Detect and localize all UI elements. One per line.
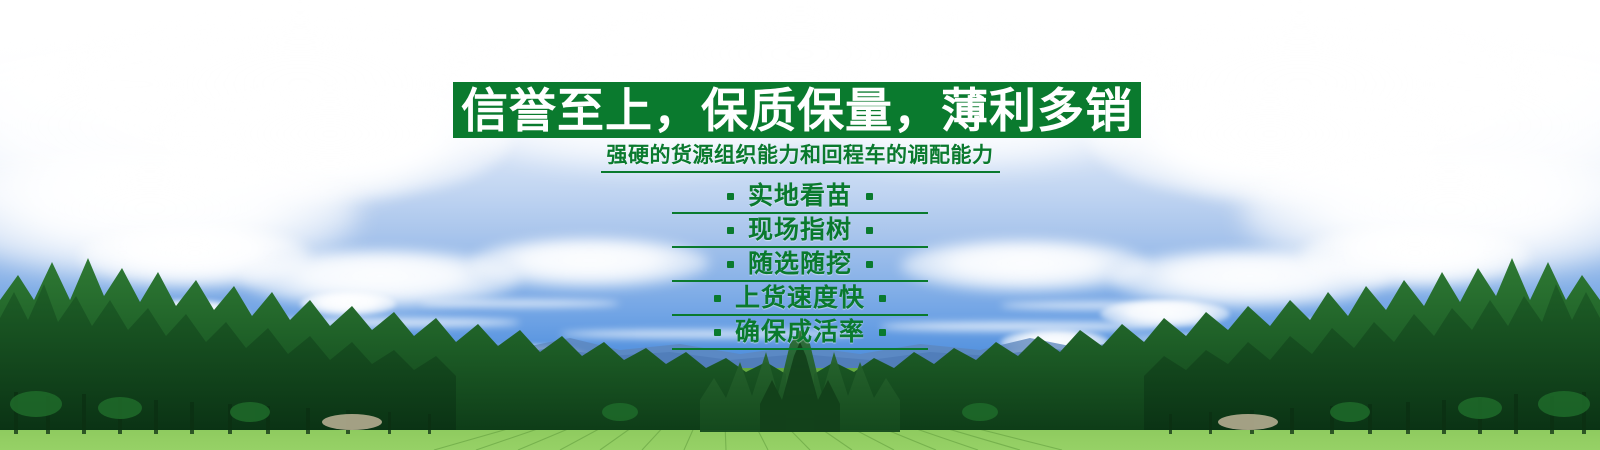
headline-banner: 信誉至上，保质保量，薄利多销 [453, 82, 1141, 138]
feature-item: 随选随挖 [672, 248, 928, 282]
bullet-dot-icon [727, 227, 734, 234]
feature-label: 确保成活率 [735, 320, 865, 345]
feature-label: 上货速度快 [735, 286, 865, 311]
bullet-dot-icon [866, 261, 873, 268]
subtitle-text: 强硬的货源组织能力和回程车的调配能力 [601, 144, 1000, 173]
promo-banner: 信誉至上，保质保量，薄利多销 强硬的货源组织能力和回程车的调配能力 实地看苗 现… [0, 0, 1600, 450]
banner-content: 信誉至上，保质保量，薄利多销 强硬的货源组织能力和回程车的调配能力 实地看苗 现… [0, 0, 1600, 450]
bullet-dot-icon [866, 193, 873, 200]
feature-list: 实地看苗 现场指树 随选随挖 上货速度快 确保成活率 [0, 180, 1600, 350]
feature-label: 随选随挖 [748, 252, 852, 277]
feature-label: 现场指树 [748, 218, 852, 243]
bullet-dot-icon [879, 295, 886, 302]
bullet-dot-icon [727, 193, 734, 200]
subtitle-container: 强硬的货源组织能力和回程车的调配能力 [0, 144, 1600, 173]
feature-item: 上货速度快 [672, 282, 928, 316]
headline-text: 信誉至上，保质保量，薄利多销 [461, 87, 1133, 134]
bullet-dot-icon [727, 261, 734, 268]
bullet-dot-icon [866, 227, 873, 234]
bullet-dot-icon [714, 295, 721, 302]
bullet-dot-icon [714, 329, 721, 336]
bullet-dot-icon [879, 329, 886, 336]
feature-label: 实地看苗 [748, 184, 852, 209]
feature-item: 实地看苗 [672, 180, 928, 214]
feature-item: 现场指树 [672, 214, 928, 248]
feature-item: 确保成活率 [672, 316, 928, 350]
